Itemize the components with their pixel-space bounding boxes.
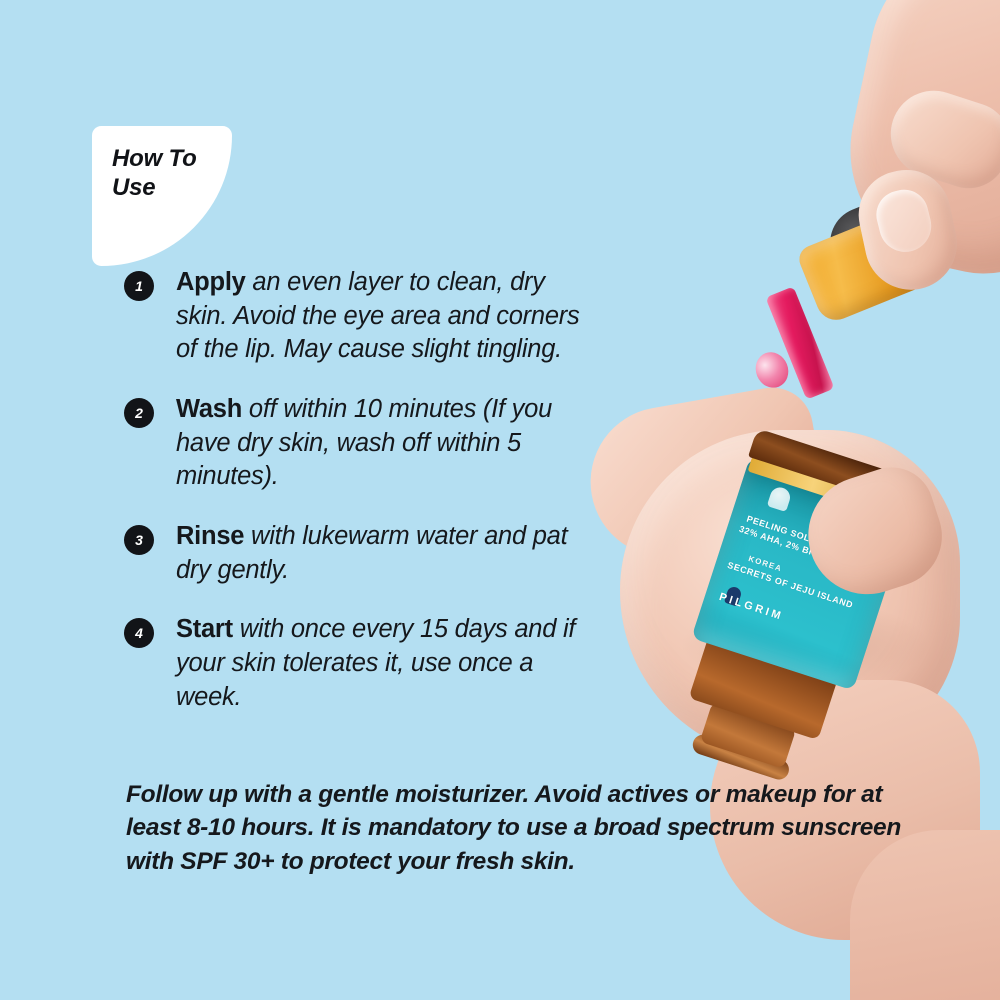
step-lead-word: Start (176, 615, 233, 643)
how-to-use-card: How To Use (92, 126, 232, 266)
footnote-text: Follow up with a gentle moisturizer. Avo… (126, 778, 916, 878)
step-text: Start with once every 15 days and if you… (176, 613, 594, 714)
step-item: 2 Wash off within 10 minutes (If you hav… (124, 393, 594, 494)
steps-list: 1 Apply an even layer to clean, dry skin… (124, 266, 594, 740)
step-number-badge: 1 (124, 271, 154, 301)
step-number-badge: 3 (124, 525, 154, 555)
step-lead-word: Apply (176, 268, 246, 296)
step-number-badge: 4 (124, 618, 154, 648)
how-to-use-title: How To Use (112, 144, 197, 203)
label-brand: PILGRIM (718, 591, 785, 623)
infographic-canvas: PILGRIM SECRETS OF JEJU ISLAND KOREA 32%… (0, 0, 1000, 1000)
step-item: 4 Start with once every 15 days and if y… (124, 613, 594, 714)
step-text: Apply an even layer to clean, dry skin. … (176, 266, 594, 367)
label-illustration-secondary-icon (767, 485, 793, 512)
step-body: with once every 15 days and if your skin… (176, 615, 575, 710)
step-number-badge: 2 (124, 398, 154, 428)
step-text: Wash off within 10 minutes (If you have … (176, 393, 594, 494)
step-lead-word: Rinse (176, 522, 244, 550)
step-item: 1 Apply an even layer to clean, dry skin… (124, 266, 594, 367)
step-lead-word: Wash (176, 395, 242, 423)
step-item: 3 Rinse with lukewarm water and pat dry … (124, 520, 594, 587)
step-text: Rinse with lukewarm water and pat dry ge… (176, 520, 594, 587)
serum-droplet (750, 347, 793, 392)
